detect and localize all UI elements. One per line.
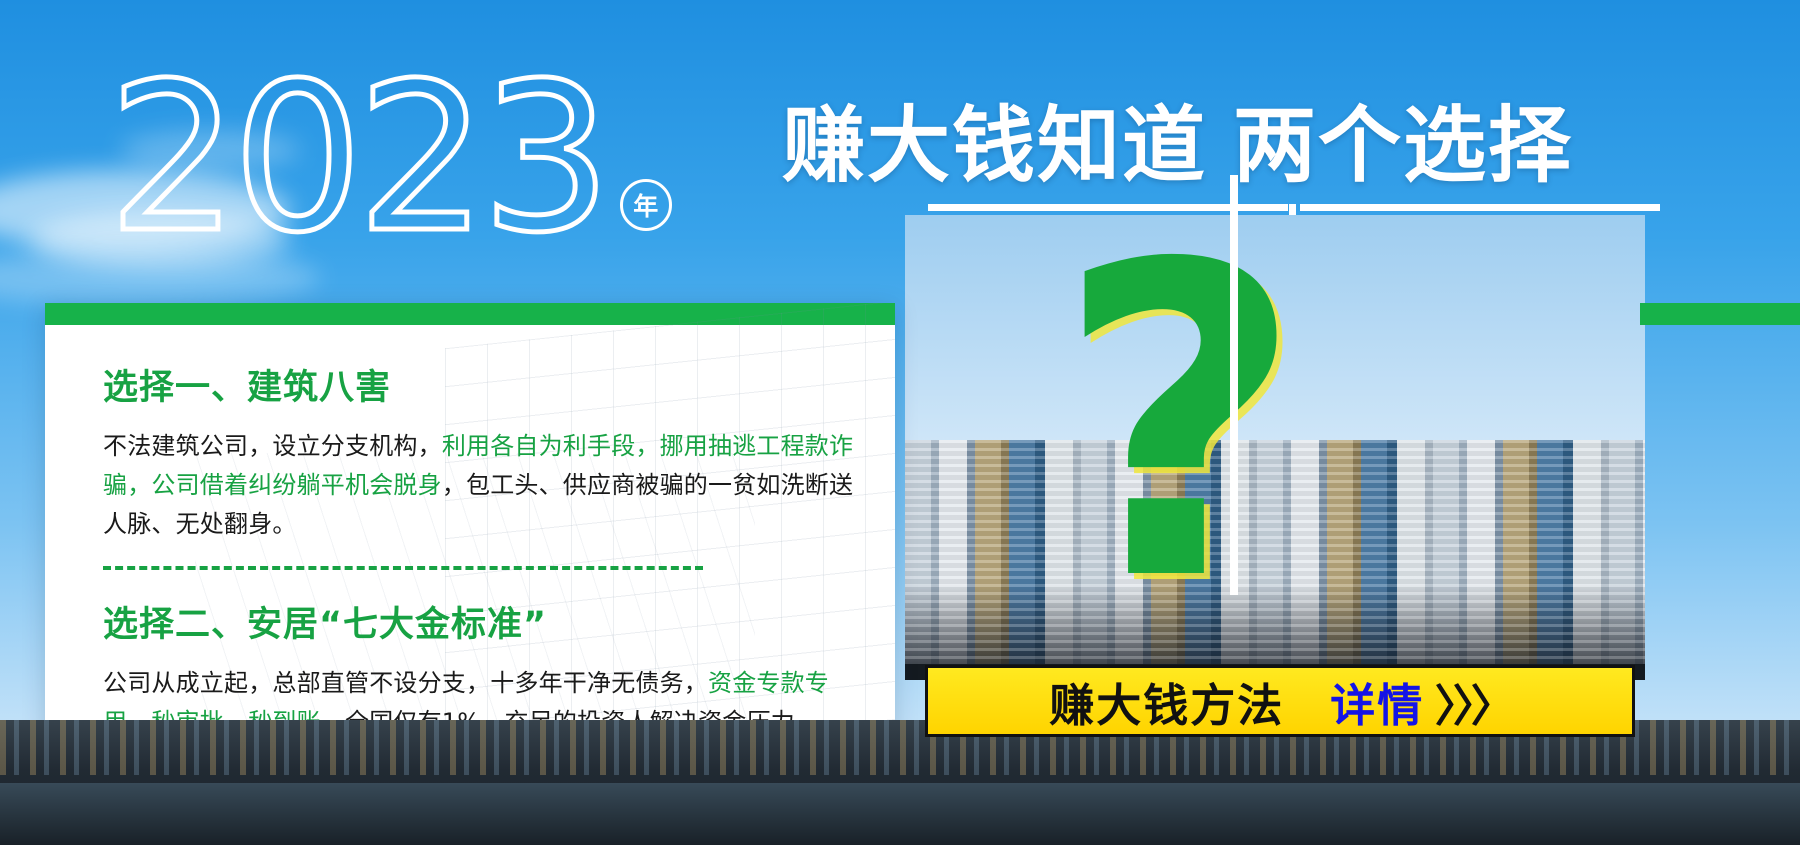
year-number: 2023 [108, 62, 606, 257]
year-suffix-badge: 年 [620, 179, 672, 231]
promo-banner: 2023 年 赚大钱知道两个选择 TWO CHOICES ? 赚大钱方法 详情 … [0, 0, 1800, 845]
cta-link-group[interactable]: 详情 〉〉〉 [1330, 669, 1510, 734]
headline-right: 两个选择 [1233, 97, 1573, 194]
year-block: 2023 年 [108, 62, 672, 257]
section-2-title: 选择二、安居“七大金标准” [103, 596, 857, 647]
page-title: 赚大钱知道两个选择 [782, 78, 1573, 198]
section-divider [103, 566, 703, 570]
skyline-water-reflection [0, 783, 1800, 845]
headline-left: 赚大钱知道 [782, 97, 1207, 194]
section-2-text-a: 公司从成立起，总部直管不设分支，十多年干净无债务， [103, 669, 708, 697]
city-photo-panel: ? [905, 215, 1645, 680]
bottom-skyline-strip [0, 720, 1800, 845]
cta-main-label: 赚大钱方法 [1049, 669, 1284, 734]
section-1-body: 不法建筑公司，设立分支机构，利用各自为利手段，挪用抽逃工程款诈骗，公司借着纠纷躺… [103, 427, 857, 544]
section-1-text-a: 不法建筑公司，设立分支机构， [103, 432, 442, 460]
section-1-title: 选择一、建筑八害 [103, 359, 857, 410]
card-green-topbar [45, 303, 895, 325]
card-green-accent-right [1640, 303, 1800, 325]
headline-underline-right [1300, 204, 1660, 211]
card-content: 选择一、建筑八害 不法建筑公司，设立分支机构，利用各自为利手段，挪用抽逃工程款诈… [103, 359, 857, 741]
chevron-right-icon: 〉〉〉 [1435, 681, 1511, 732]
cta-link-label: 详情 [1330, 679, 1424, 732]
photo-vertical-rule [1230, 175, 1238, 595]
cta-button[interactable]: 赚大钱方法 详情 〉〉〉 [925, 665, 1635, 737]
question-mark-icon: ? [1055, 215, 1304, 640]
